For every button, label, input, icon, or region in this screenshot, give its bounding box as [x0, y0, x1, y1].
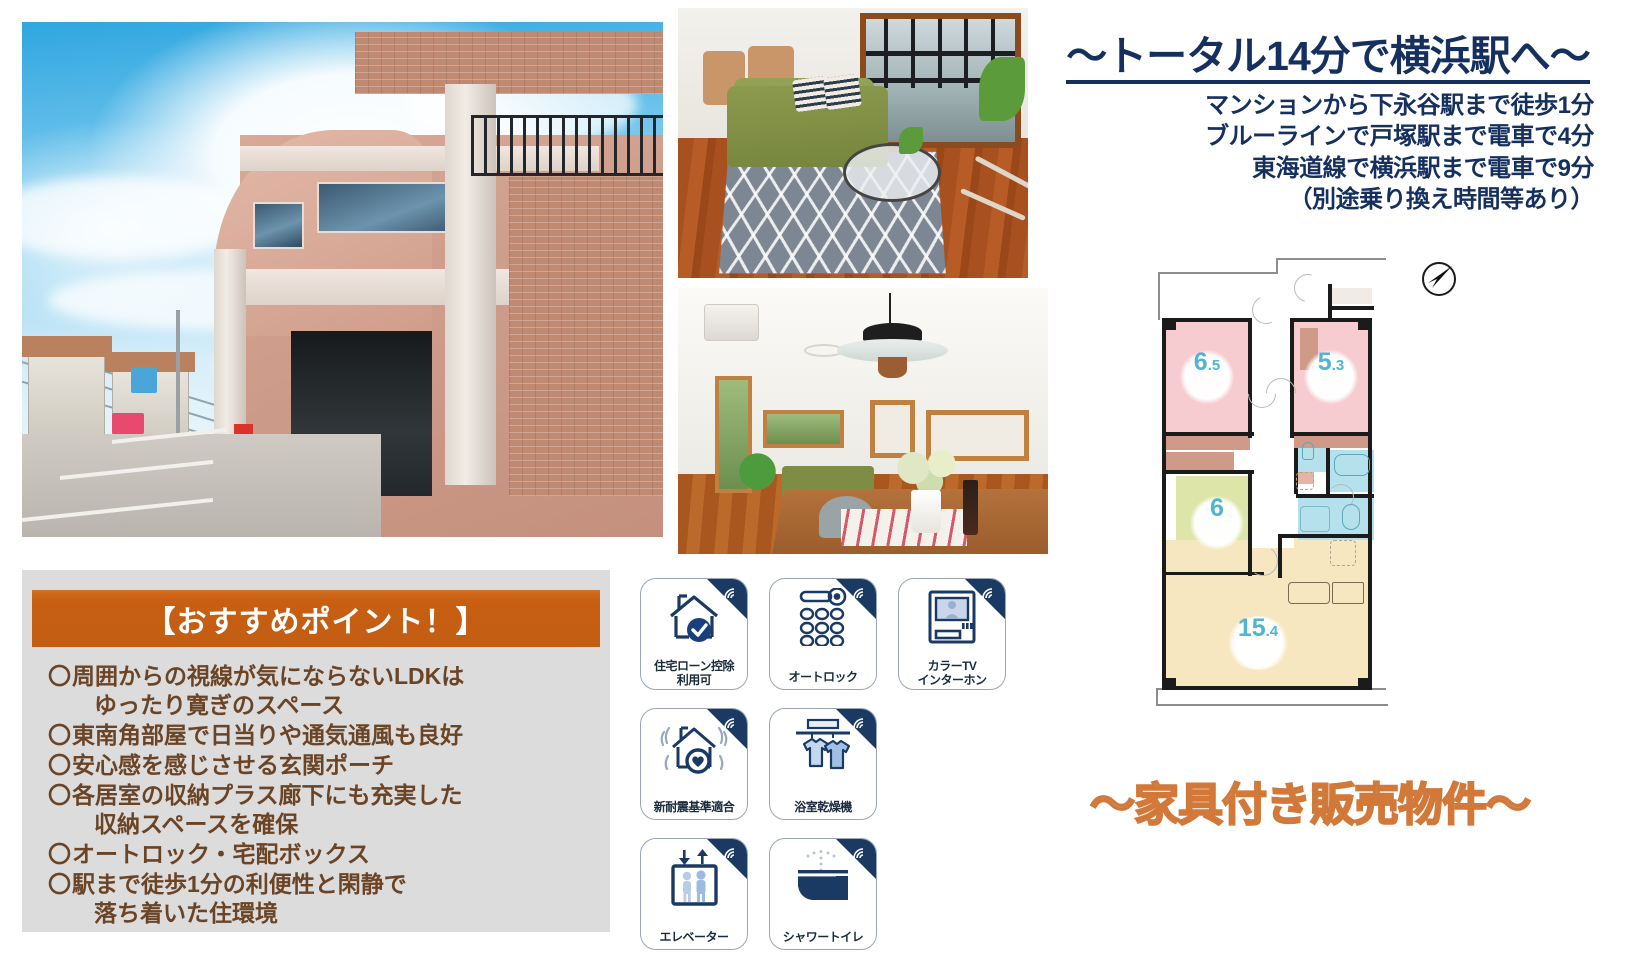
outline	[1158, 272, 1278, 274]
wall-hallway	[1290, 318, 1294, 438]
feature-shower-toilet[interactable]: シャワートイレ	[769, 838, 877, 950]
house-quake-heart-icon	[641, 716, 747, 778]
round-coffee-table	[843, 143, 941, 202]
feature-icon-grid: 住宅ローン控除利用可	[640, 578, 1015, 958]
small-plant	[899, 127, 924, 154]
wall-interior	[1162, 470, 1254, 474]
recommend-item: 〇 駅まで徒歩1分の利便性と閑静で 落ち着いた住環境	[48, 870, 606, 928]
feature-label: オートロック	[770, 671, 876, 684]
recommend-item-text: 周囲からの視線が気にならないLDKは ゆったり寛ぎのスペース	[72, 662, 606, 720]
neighbor-roof	[22, 336, 112, 357]
recommend-item-text: オートロック・宅配ボックス	[72, 840, 606, 869]
recommend-line: 東南角部屋で日当りや通気通風も良好	[72, 722, 463, 748]
potted-plant	[979, 57, 1025, 122]
outline	[1158, 272, 1160, 320]
wall-bottom	[1176, 686, 1372, 690]
bathtub-fixture	[1334, 454, 1370, 476]
pendant-lamp-cord	[889, 293, 891, 325]
recommend-line: 駅まで徒歩1分の利便性と閑静で	[72, 871, 407, 897]
room-size-label: 6	[1190, 496, 1244, 550]
access-headline-block: ～トータル14分で横浜駅へ～ マンションから下永谷駅まで徒歩1分 ブルーラインで…	[1048, 34, 1608, 215]
headline-subline: （別途乗り換え時間等あり）	[1048, 184, 1608, 215]
brick-wall	[355, 32, 663, 94]
white-vase	[911, 490, 941, 533]
feature-label: 浴室乾燥機	[770, 801, 876, 814]
feature-quake-standard[interactable]: 新耐震基準適合	[640, 708, 748, 820]
room-size-label: 15.4	[1226, 616, 1290, 670]
brick-wall	[509, 177, 663, 496]
room-size-label: 5.3	[1304, 350, 1358, 404]
recommend-item-text: 安心感を感じさせる玄関ポーチ	[72, 751, 606, 780]
feature-label: エレベーター	[641, 931, 747, 944]
headline-sublines: マンションから下永谷駅まで徒歩1分 ブルーラインで戸塚駅まで電車で4分 東海道線…	[1048, 90, 1608, 215]
recommend-line: 収納スペースを確保	[72, 810, 298, 839]
utility-pole	[176, 310, 180, 444]
wall-interior	[1292, 432, 1372, 436]
hallway	[1250, 320, 1294, 548]
recommend-line: オートロック・宅配ボックス	[72, 841, 370, 867]
door-swing	[1289, 269, 1327, 307]
headline-title: ～トータル14分で横浜駅へ～	[1066, 34, 1590, 84]
table-runner	[841, 509, 967, 546]
shower-toilet-icon	[770, 846, 876, 908]
recommend-points-panel: 【おすすめポイント！】 〇 周囲からの視線が気にならないLDKは ゆったり寛ぎの…	[22, 570, 610, 932]
washer-space	[1300, 506, 1330, 532]
facade-window	[253, 202, 304, 248]
closet-fill	[1164, 434, 1250, 450]
wall-left	[1162, 318, 1166, 690]
striped-pillow	[823, 73, 862, 110]
north-arrow-icon	[1418, 258, 1460, 300]
wine-bottle	[963, 480, 978, 536]
bath-dryer-shirts-icon	[770, 716, 876, 778]
recommend-line: 安心感を感じさせる玄関ポーチ	[72, 752, 394, 778]
railing-post	[911, 19, 915, 88]
recommend-line: 各居室の収納プラス廊下にも充実した	[72, 782, 463, 808]
balcony-railing	[471, 115, 663, 177]
feature-label: 住宅ローン控除利用可	[641, 660, 747, 687]
corner-pillar	[1162, 678, 1176, 690]
outline	[1276, 258, 1386, 260]
pendant-lamp-core	[878, 357, 908, 378]
recommend-item: 〇 各居室の収納プラス廊下にも充実した 収納スペースを確保	[48, 781, 606, 839]
wall-right	[1368, 318, 1372, 690]
recommend-item-text: 各居室の収納プラス廊下にも充実した 収納スペースを確保	[72, 781, 606, 839]
recommend-item: 〇 周囲からの視線が気にならないLDKは ゆったり寛ぎのスペース	[48, 662, 606, 720]
elevator-icon	[641, 846, 747, 908]
washbasin-fixture	[1342, 504, 1360, 530]
feature-bath-dryer[interactable]: 浴室乾燥機	[769, 708, 877, 820]
air-conditioner	[704, 304, 760, 341]
house-check-icon	[641, 586, 747, 648]
stove-top	[1332, 582, 1364, 604]
recommend-item: 〇 安心感を感じさせる玄関ポーチ	[48, 751, 606, 780]
recommend-line: 落ち着いた住環境	[72, 899, 278, 928]
parking-ground	[22, 434, 381, 537]
color-tv-intercom-icon	[899, 586, 1005, 648]
bullet-icon: 〇	[48, 662, 71, 691]
bullet-icon: 〇	[48, 840, 71, 869]
neighbor-house	[28, 346, 105, 439]
corner-pillar	[1358, 318, 1372, 330]
entrance-wall	[1328, 306, 1374, 310]
headline-subline: ブルーラインで戸塚駅まで電車で4分	[1048, 121, 1608, 152]
feature-elevator[interactable]: エレベーター	[640, 838, 748, 950]
wall-interior	[1278, 534, 1282, 578]
flyer-page: ～トータル14分で横浜駅へ～ マンションから下永谷駅まで徒歩1分 ブルーラインで…	[0, 0, 1625, 979]
recommend-list: 〇 周囲からの視線が気にならないLDKは ゆったり寛ぎのスペース 〇 東南角部屋…	[48, 662, 606, 929]
railing-post	[938, 19, 942, 88]
kitchen-sink	[1288, 582, 1330, 604]
feature-label: カラーTVインターホン	[899, 660, 1005, 687]
railing-post	[884, 19, 888, 88]
feature-autolock[interactable]: オートロック	[769, 578, 877, 690]
bullet-icon: 〇	[48, 721, 71, 750]
storage-space	[1296, 472, 1314, 490]
recommend-item-text: 駅まで徒歩1分の利便性と閑静で 落ち着いた住環境	[72, 870, 606, 928]
recommend-header: 【おすすめポイント！】	[32, 590, 600, 647]
recommend-item: 〇 東南角部屋で日当りや通気通風も良好	[48, 721, 606, 750]
potted-plant	[737, 453, 778, 506]
wall-interior	[1280, 534, 1372, 538]
bullet-icon: 〇	[48, 870, 71, 899]
flower-bouquet	[889, 450, 970, 495]
headline-subline: 東海道線で横浜駅まで電車で9分	[1048, 153, 1608, 184]
keypad-autolock-icon	[770, 586, 876, 648]
exterior-building-photo	[22, 22, 663, 537]
railing-post	[964, 19, 968, 88]
toilet-fixture	[1302, 442, 1314, 460]
wall-interior	[1326, 448, 1330, 494]
floor-plan: 6.5 5.3 6 15.4	[1148, 258, 1448, 708]
recommend-item-text: 東南角部屋で日当りや通気通風も良好	[72, 721, 606, 750]
feature-color-tv-intercom[interactable]: カラーTVインターホン	[898, 578, 1006, 690]
headline-subline: マンションから下永谷駅まで徒歩1分	[1048, 90, 1608, 121]
corner-pillar	[1162, 318, 1176, 330]
refrigerator-space	[1330, 540, 1356, 566]
feature-label: 新耐震基準適合	[641, 801, 747, 814]
outline	[1276, 258, 1278, 274]
garden-window	[763, 410, 844, 447]
street-sign	[131, 367, 157, 393]
entrance-porch	[1332, 288, 1372, 304]
furnished-property-tagline: ～家具付き販売物件～	[1010, 768, 1610, 833]
living-room-photo	[678, 8, 1028, 278]
dining-room-photo	[678, 288, 1048, 554]
closet-fill	[1164, 452, 1234, 472]
wall-interior	[1162, 432, 1254, 436]
balcony-outline	[1156, 704, 1388, 706]
recommend-item: 〇 オートロック・宅配ボックス	[48, 840, 606, 869]
wall-interior	[1164, 572, 1264, 575]
room-size-label: 6.5	[1180, 350, 1234, 404]
wall-hallway	[1248, 318, 1252, 438]
bullet-icon: 〇	[48, 751, 71, 780]
feature-label: シャワートイレ	[770, 931, 876, 944]
recommend-line: ゆったり寛ぎのスペース	[72, 691, 344, 720]
bullet-icon: 〇	[48, 781, 71, 810]
feature-house-check[interactable]: 住宅ローン控除利用可	[640, 578, 748, 690]
recommend-line: 周囲からの視線が気にならないLDKは	[72, 663, 464, 689]
parking-sign	[112, 413, 144, 434]
